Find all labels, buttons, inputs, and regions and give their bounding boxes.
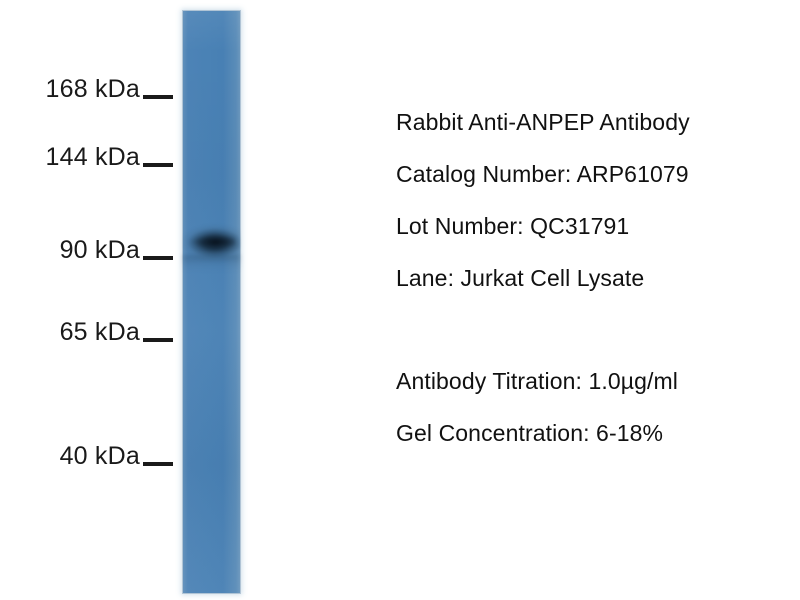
antibody-info-block: Rabbit Anti-ANPEP Antibody Catalog Numbe… bbox=[396, 96, 690, 304]
antibody-titration: Antibody Titration: 1.0µg/ml bbox=[396, 355, 678, 407]
assay-conditions-block: Antibody Titration: 1.0µg/ml Gel Concent… bbox=[396, 355, 678, 459]
protein-band-smear bbox=[183, 255, 240, 271]
antibody-title: Rabbit Anti-ANPEP Antibody bbox=[396, 96, 690, 148]
marker-65: 65 kDa bbox=[0, 320, 173, 345]
western-blot-figure: 168 kDa 144 kDa 90 kDa 65 kDa 40 kDa Rab… bbox=[0, 0, 800, 600]
marker-label: 168 kDa bbox=[45, 77, 140, 102]
marker-40: 40 kDa bbox=[0, 444, 173, 469]
marker-label: 144 kDa bbox=[45, 145, 140, 170]
blot-lane bbox=[183, 11, 240, 593]
lot-number: Lot Number: QC31791 bbox=[396, 200, 690, 252]
lane-texture bbox=[183, 11, 240, 593]
gel-concentration: Gel Concentration: 6-18% bbox=[396, 407, 678, 459]
marker-tick-icon bbox=[143, 338, 173, 342]
catalog-number: Catalog Number: ARP61079 bbox=[396, 148, 690, 200]
protein-band bbox=[183, 223, 240, 263]
marker-168: 168 kDa bbox=[0, 77, 173, 102]
lane-description: Lane: Jurkat Cell Lysate bbox=[396, 252, 690, 304]
marker-tick-icon bbox=[143, 163, 173, 167]
protein-band-core bbox=[187, 235, 235, 249]
marker-tick-icon bbox=[143, 256, 173, 260]
marker-tick-icon bbox=[143, 462, 173, 466]
marker-90: 90 kDa bbox=[0, 238, 173, 263]
marker-label: 90 kDa bbox=[60, 238, 140, 263]
marker-label: 40 kDa bbox=[60, 444, 140, 469]
marker-tick-icon bbox=[143, 95, 173, 99]
marker-label: 65 kDa bbox=[60, 320, 140, 345]
marker-144: 144 kDa bbox=[0, 145, 173, 170]
